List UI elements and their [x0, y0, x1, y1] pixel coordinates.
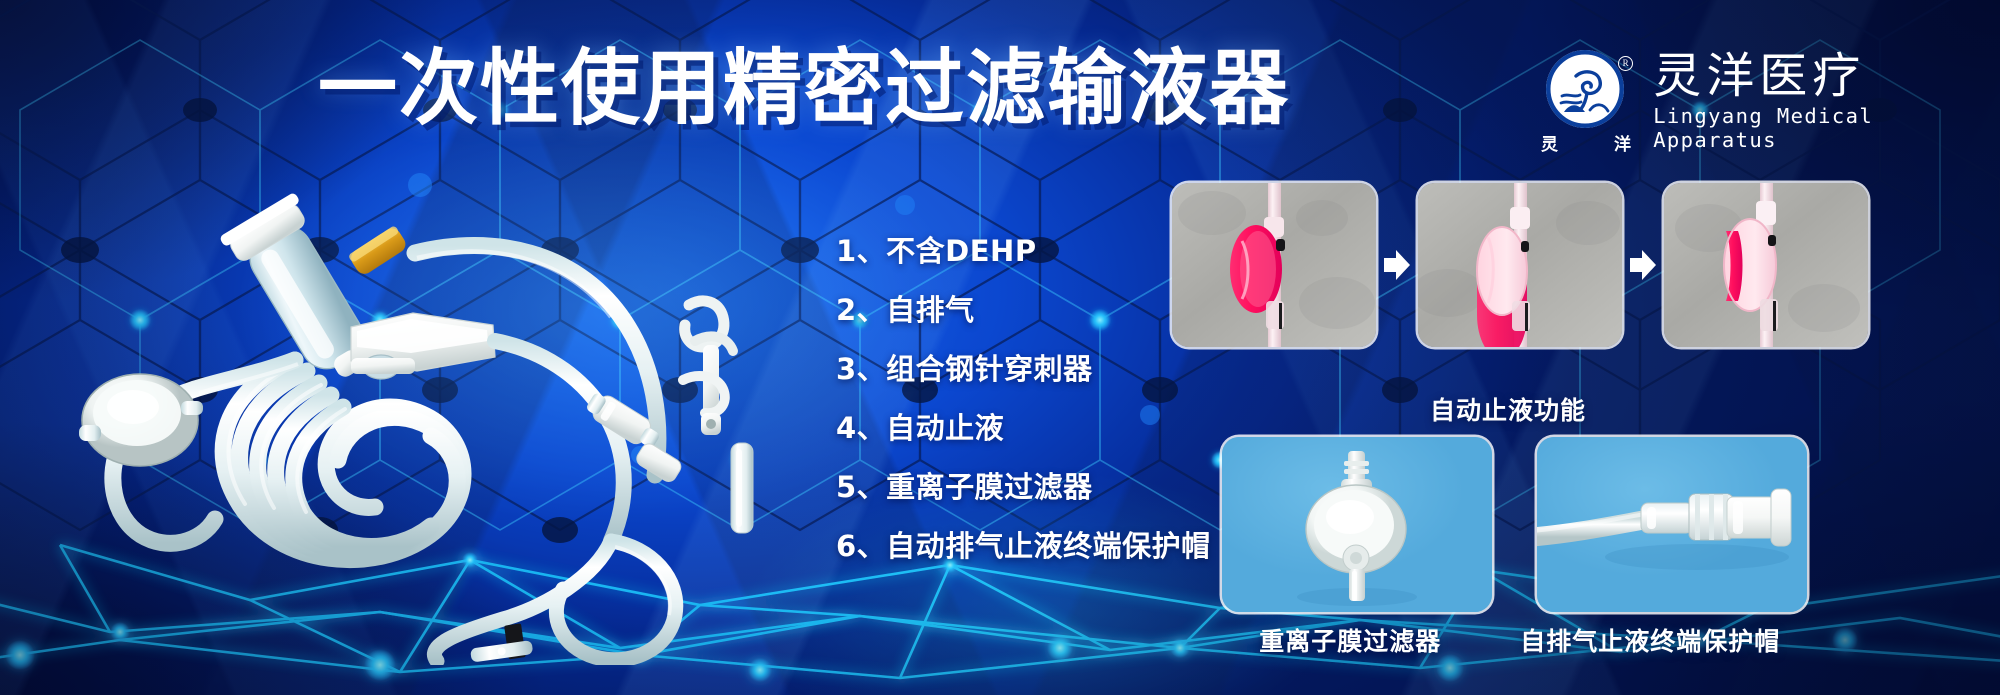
stop-flow-frame-2 — [1418, 183, 1622, 347]
brand-name-cn: 灵洋医疗 — [1653, 52, 2000, 102]
stop-flow-demo-group — [1172, 183, 1868, 347]
brand-name-block: 灵洋医疗 Lingyang Medical Apparatus — [1653, 52, 2000, 152]
photo-wing-needle — [683, 301, 733, 435]
stop-flow-frame-1 — [1172, 183, 1376, 347]
feature-item-3: 3、组合钢针穿刺器 — [836, 340, 1211, 399]
wave-bird-icon — [1546, 50, 1624, 128]
stop-flow-frame-3 — [1664, 183, 1868, 347]
page-title: 一次性使用精密过滤输液器 — [318, 48, 1290, 130]
panel-terminal-protective-cap — [1537, 437, 1807, 612]
logo-circle-icon — [1546, 50, 1624, 128]
stop-flow-caption: 自动止液功能 — [1172, 391, 1844, 427]
logo-sub-left: 灵 — [1541, 130, 1558, 155]
caption-heavy-ion-filter: 重离子膜过滤器 — [1222, 622, 1479, 658]
bottom-panel-group — [1222, 437, 1807, 612]
logo-subtext: 灵 洋 — [1538, 130, 1634, 155]
brand-logo: R 灵 洋 灵洋医疗 Lingyang Medical Apparatus — [1538, 50, 2000, 154]
feature-item-2: 2、自排气 — [836, 281, 1211, 340]
arrow-right-icon — [1384, 250, 1410, 280]
registered-trademark-icon: R — [1618, 56, 1633, 71]
product-photo-infusion-set — [55, 175, 765, 665]
feature-list: 1、不含DEHP 2、自排气 3、组合钢针穿刺器 4、自动止液 5、重离子膜过滤… — [836, 222, 1211, 576]
bottom-caption-group: 重离子膜过滤器 自排气止液终端保护帽 — [1222, 622, 1807, 658]
feature-item-1: 1、不含DEHP — [836, 222, 1211, 281]
panel-heavy-ion-filter — [1222, 437, 1492, 612]
stop-flow-arrow-gap-1 — [1376, 183, 1418, 347]
photo-roller-clamp — [351, 313, 495, 379]
arrow-right-icon — [1630, 250, 1656, 280]
logo-emblem: R 灵 洋 — [1538, 50, 1631, 154]
stop-flow-arrow-gap-2 — [1622, 183, 1664, 347]
brand-name-en: Lingyang Medical Apparatus — [1653, 104, 2000, 152]
feature-item-4: 4、自动止液 — [836, 399, 1211, 458]
product-banner: 一次性使用精密过滤输液器 R 灵 洋 — [0, 0, 2000, 695]
feature-item-5: 5、重离子膜过滤器 — [836, 458, 1211, 517]
logo-sub-right: 洋 — [1614, 130, 1631, 155]
photo-spike-cap — [348, 225, 409, 277]
photo-protective-cap — [731, 443, 753, 533]
caption-terminal-protective-cap: 自排气止液终端保护帽 — [1494, 622, 1808, 658]
feature-item-6: 6、自动排气止液终端保护帽 — [836, 517, 1211, 576]
